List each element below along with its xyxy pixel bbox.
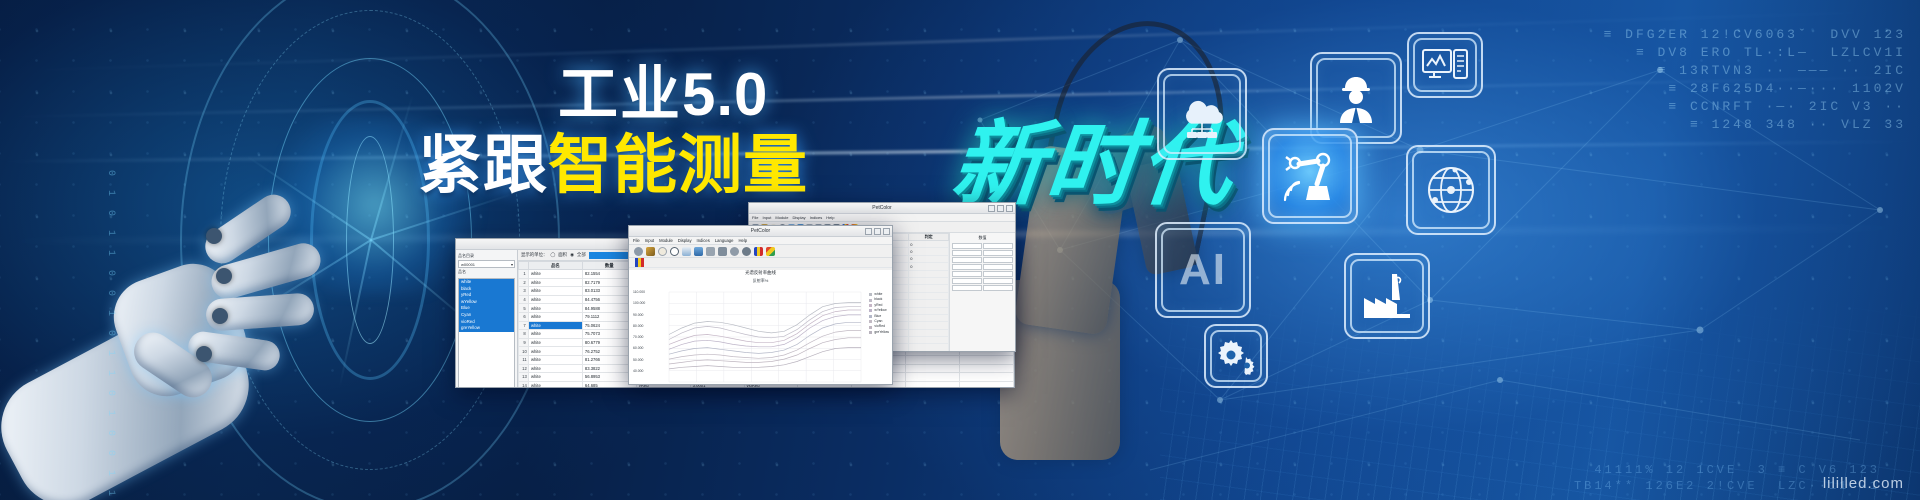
refresh-icon[interactable] <box>730 247 739 256</box>
legend-swatch <box>869 304 872 307</box>
table-cell[interactable]: 0 <box>909 248 949 255</box>
catalog-item[interactable]: greYellow <box>459 325 514 332</box>
catalog-sidebar[interactable]: 品名目录 w00001 ▾ 品名 whiteblackyRedwYellowBl… <box>456 250 518 387</box>
table-cell[interactable]: white <box>529 381 583 387</box>
chart-series-line <box>669 338 861 364</box>
table-cell[interactable] <box>909 277 949 284</box>
table-cell[interactable]: 10 <box>519 347 529 356</box>
radio-area-label: 面积 <box>558 252 567 258</box>
chart-y-tick: 90.000 <box>633 313 643 317</box>
catalog-group-label: 品名目录 <box>458 253 515 259</box>
monitor-dashboard-icon[interactable] <box>1407 32 1483 98</box>
value-cell[interactable] <box>952 285 982 291</box>
value-row[interactable] <box>952 250 1013 256</box>
globe-network-icon[interactable] <box>1406 145 1496 235</box>
table-cell[interactable]: white <box>529 321 583 330</box>
gears-glyph <box>1216 337 1256 375</box>
chart-y-tick: 40.000 <box>633 369 643 373</box>
table-cell[interactable]: white <box>529 312 583 321</box>
headline-line2-white: 紧跟 <box>418 129 548 201</box>
value-cell[interactable] <box>983 271 1013 277</box>
table-cell[interactable] <box>909 351 949 352</box>
table-cell[interactable] <box>909 307 949 314</box>
catalog-item[interactable]: vioRed <box>459 319 514 326</box>
table-cell[interactable]: 13 <box>519 373 529 382</box>
window-controls[interactable] <box>988 205 1013 212</box>
table-cell[interactable]: 8 <box>519 330 529 339</box>
table-cell[interactable]: 5 <box>519 304 529 313</box>
table-cell[interactable]: 9 <box>519 338 529 347</box>
table-cell[interactable] <box>909 285 949 292</box>
chart-y-tick: 100.000 <box>633 301 645 305</box>
legend-entry[interactable]: greYellow <box>869 330 889 335</box>
chart-series-line <box>669 331 861 360</box>
table-cell[interactable]: white <box>529 330 583 339</box>
legend-swatch <box>869 320 872 323</box>
engineer-glyph <box>1332 73 1380 123</box>
table-cell[interactable]: 0 <box>909 241 949 248</box>
table-cell[interactable] <box>909 344 949 351</box>
legend-swatch <box>869 309 872 312</box>
menu-item[interactable]: Help <box>826 215 834 220</box>
headline-line2-yellow: 智能测量 <box>548 129 808 201</box>
table-cell[interactable]: 14 <box>519 381 529 387</box>
catalog-item[interactable]: Cyan <box>459 312 514 319</box>
catalog-combo-value: w00001 <box>461 262 475 267</box>
table-cell[interactable] <box>909 314 949 321</box>
table-cell[interactable] <box>909 300 949 307</box>
catalog-combo[interactable]: w00001 ▾ <box>458 260 515 268</box>
table-cell[interactable]: white <box>529 270 583 279</box>
robot-arm-glyph <box>1283 150 1337 202</box>
table-cell[interactable]: white <box>529 347 583 356</box>
value-cell[interactable] <box>952 278 982 284</box>
table-cell[interactable] <box>960 373 1014 382</box>
code-texture-vertical: 0 1 0 1 1 0 0 1 0 1 1 0 1 0 0 1 1 0 1 0 <box>104 170 117 500</box>
table-cell[interactable] <box>906 373 960 382</box>
globe-glyph <box>1425 164 1477 216</box>
flag-icon[interactable] <box>754 247 763 256</box>
window-titlebar[interactable]: PetColor <box>749 203 1015 214</box>
window-titlebar[interactable]: PetColor <box>629 226 892 237</box>
table-header-cell[interactable]: 品名 <box>529 262 583 270</box>
menu-item[interactable]: Display <box>792 215 805 220</box>
chart-plot-area[interactable]: 光谱反射率曲线 反射率% 110.000100.00090.00080.0007… <box>629 270 892 385</box>
chart-subtoolbar[interactable] <box>629 258 892 268</box>
window-petcolor-chart[interactable]: PetColor FileInputModuleDisplayIndicesLa… <box>628 225 893 385</box>
gears-icon[interactable] <box>1204 324 1268 388</box>
table-cell[interactable]: 7 <box>519 321 529 330</box>
close-icon[interactable] <box>1006 205 1013 212</box>
values-panel-label: 数值 <box>952 235 1013 241</box>
menu-bar[interactable]: FileInputModuleDisplayIndicesLanguageHel… <box>629 237 892 245</box>
chart-series-line <box>669 307 861 340</box>
menu-item[interactable]: File <box>752 215 758 220</box>
palette-icon[interactable] <box>766 247 775 256</box>
table-cell[interactable] <box>960 355 1014 364</box>
value-row[interactable] <box>952 271 1013 277</box>
value-cell[interactable] <box>983 285 1013 291</box>
table-cell[interactable]: white <box>529 304 583 313</box>
table-header-cell[interactable]: 判定 <box>909 234 949 241</box>
factory-glyph <box>1362 274 1412 318</box>
chart-y-tick: 60.000 <box>633 346 643 350</box>
menu-item[interactable]: File <box>633 238 640 243</box>
zoom-icon[interactable] <box>742 247 751 256</box>
value-cell[interactable] <box>983 257 1013 263</box>
legend-swatch <box>869 293 872 296</box>
table-cell[interactable]: 3 <box>519 287 529 296</box>
value-row[interactable] <box>952 285 1013 291</box>
table-cell[interactable]: 6 <box>519 312 529 321</box>
menu-item[interactable]: Indices <box>810 215 823 220</box>
radio-area[interactable]: ◯ <box>550 252 555 258</box>
table-cell[interactable] <box>909 322 949 329</box>
headline-line-2: 紧跟智能测量 <box>418 114 808 206</box>
pen-icon[interactable] <box>646 247 655 256</box>
value-cell[interactable] <box>952 250 982 256</box>
chart-series-line <box>669 310 861 344</box>
table-cell[interactable]: white <box>529 355 583 364</box>
table-cell[interactable] <box>906 364 960 373</box>
maximize-icon[interactable] <box>874 228 881 235</box>
flag-icon[interactable] <box>635 258 644 267</box>
ai-text-icon[interactable]: AI <box>1155 222 1251 318</box>
menu-item[interactable]: Display <box>678 238 692 243</box>
table-cell[interactable]: 0 <box>909 255 949 262</box>
site-watermark: lililled.com <box>1823 475 1904 492</box>
table-cell[interactable] <box>960 364 1014 373</box>
chart-y-tick: 110.000 <box>633 290 645 294</box>
values-panel[interactable]: 数值 <box>949 233 1015 351</box>
robotic-hand-graphic <box>10 150 330 500</box>
value-cell[interactable] <box>983 250 1013 256</box>
minimize-icon[interactable] <box>865 228 872 235</box>
toolbar[interactable] <box>629 245 892 258</box>
legend-swatch <box>869 326 872 329</box>
value-row[interactable] <box>952 264 1013 270</box>
table-cell[interactable] <box>909 329 949 336</box>
table-cell[interactable]: white <box>529 295 583 304</box>
chart-y-tick: 50.000 <box>633 358 643 362</box>
table-cell[interactable] <box>960 381 1014 387</box>
table-cell[interactable]: 0 <box>909 263 949 270</box>
table-cell[interactable] <box>909 270 949 277</box>
factory-icon[interactable] <box>1344 253 1430 339</box>
menu-item[interactable]: Language <box>715 238 734 243</box>
promo-banner: ≡ DFG2ER 12!CV6063ˇ DVV 123 ≡ DV8 ERO TL… <box>0 0 1920 500</box>
radio-all-label: 全部 <box>577 252 586 258</box>
table-cell[interactable]: 12 <box>519 364 529 373</box>
table-header-cell[interactable] <box>519 262 529 270</box>
window-controls[interactable] <box>865 228 890 235</box>
value-cell[interactable] <box>983 264 1013 270</box>
folder-icon[interactable] <box>694 247 703 256</box>
menu-item[interactable]: Module <box>775 215 788 220</box>
radio-all[interactable]: ◉ <box>570 252 574 258</box>
catalog-item[interactable]: white <box>459 279 514 286</box>
table-cell[interactable] <box>909 337 949 344</box>
target-icon[interactable] <box>634 247 643 256</box>
headline-block: 工业5.0 紧跟智能测量 新时代 <box>418 46 1118 206</box>
catalog-list-label: 品名 <box>458 269 515 275</box>
spectral-curves <box>629 270 893 385</box>
value-row[interactable] <box>952 243 1013 249</box>
value-row[interactable] <box>952 257 1013 263</box>
chart-y-tick: 80.000 <box>633 324 643 328</box>
legend-swatch <box>869 315 872 318</box>
ai-label: AI <box>1179 245 1227 295</box>
table-cell[interactable]: white <box>529 338 583 347</box>
table-cell[interactable]: white <box>529 287 583 296</box>
cloud-network-icon[interactable] <box>1157 68 1247 160</box>
table-cell[interactable] <box>906 355 960 364</box>
catalog-item[interactable]: wYellow <box>459 299 514 306</box>
chart-y-tick: 70.000 <box>633 335 643 339</box>
maximize-icon[interactable] <box>997 205 1004 212</box>
value-cell[interactable] <box>983 278 1013 284</box>
value-cell[interactable] <box>952 243 982 249</box>
circle-icon[interactable] <box>658 247 667 256</box>
table-cell[interactable]: 4 <box>519 295 529 304</box>
value-cell[interactable] <box>952 257 982 263</box>
chart-legend: whiteblackyRedwYellowBlueCyanvioRedgreYe… <box>869 292 889 335</box>
menu-item[interactable]: Indices <box>697 238 710 243</box>
chevron-down-icon[interactable]: ▾ <box>511 262 514 267</box>
menu-item[interactable]: Input <box>762 215 771 220</box>
catalog-item[interactable]: Blue <box>459 305 514 312</box>
table-cell[interactable]: white <box>529 373 583 382</box>
table-cell[interactable]: white <box>529 364 583 373</box>
close-icon[interactable] <box>883 228 890 235</box>
menu-bar[interactable]: FileInputModuleDisplayIndicesHelp <box>749 214 1015 222</box>
minimize-icon[interactable] <box>988 205 995 212</box>
table-cell[interactable] <box>906 381 960 387</box>
window-title: PetColor <box>872 205 891 211</box>
robotic-arm-icon[interactable] <box>1262 128 1358 224</box>
print-icon[interactable] <box>706 247 715 256</box>
circle-outline-icon[interactable] <box>670 247 679 256</box>
catalog-item[interactable]: black <box>459 286 514 293</box>
table-cell[interactable]: white <box>529 278 583 287</box>
menu-item[interactable]: Module <box>659 238 673 243</box>
value-cell[interactable] <box>952 264 982 270</box>
legend-swatch <box>869 299 872 302</box>
table-cell[interactable]: 2 <box>519 278 529 287</box>
menu-item[interactable]: Input <box>645 238 654 243</box>
catalog-item[interactable]: yRed <box>459 292 514 299</box>
value-row[interactable] <box>952 278 1013 284</box>
catalog-listbox[interactable]: whiteblackyRedwYellowBlueCyanvioRedgreYe… <box>458 278 515 388</box>
window-title: PetColor <box>751 228 770 234</box>
save-icon[interactable] <box>718 247 727 256</box>
value-cell[interactable] <box>952 271 982 277</box>
value-cell[interactable] <box>983 243 1013 249</box>
report-icon[interactable] <box>682 247 691 256</box>
legend-label: greYellow <box>874 330 889 335</box>
dashboard-glyph <box>1422 47 1468 83</box>
code-texture-right: ≡ DFG2ER 12!CV6063ˇ DVV 123 ≡ DV8 ERO TL… <box>1604 26 1906 134</box>
table-cell[interactable]: 11 <box>519 355 529 364</box>
table-cell[interactable] <box>909 292 949 299</box>
legend-swatch <box>869 331 872 334</box>
unit-label: 显示的单位： <box>521 252 547 258</box>
menu-item[interactable]: Help <box>738 238 747 243</box>
chart-series-line <box>669 303 861 335</box>
cloud-network-glyph <box>1175 90 1229 138</box>
table-cell[interactable]: 1 <box>519 270 529 279</box>
